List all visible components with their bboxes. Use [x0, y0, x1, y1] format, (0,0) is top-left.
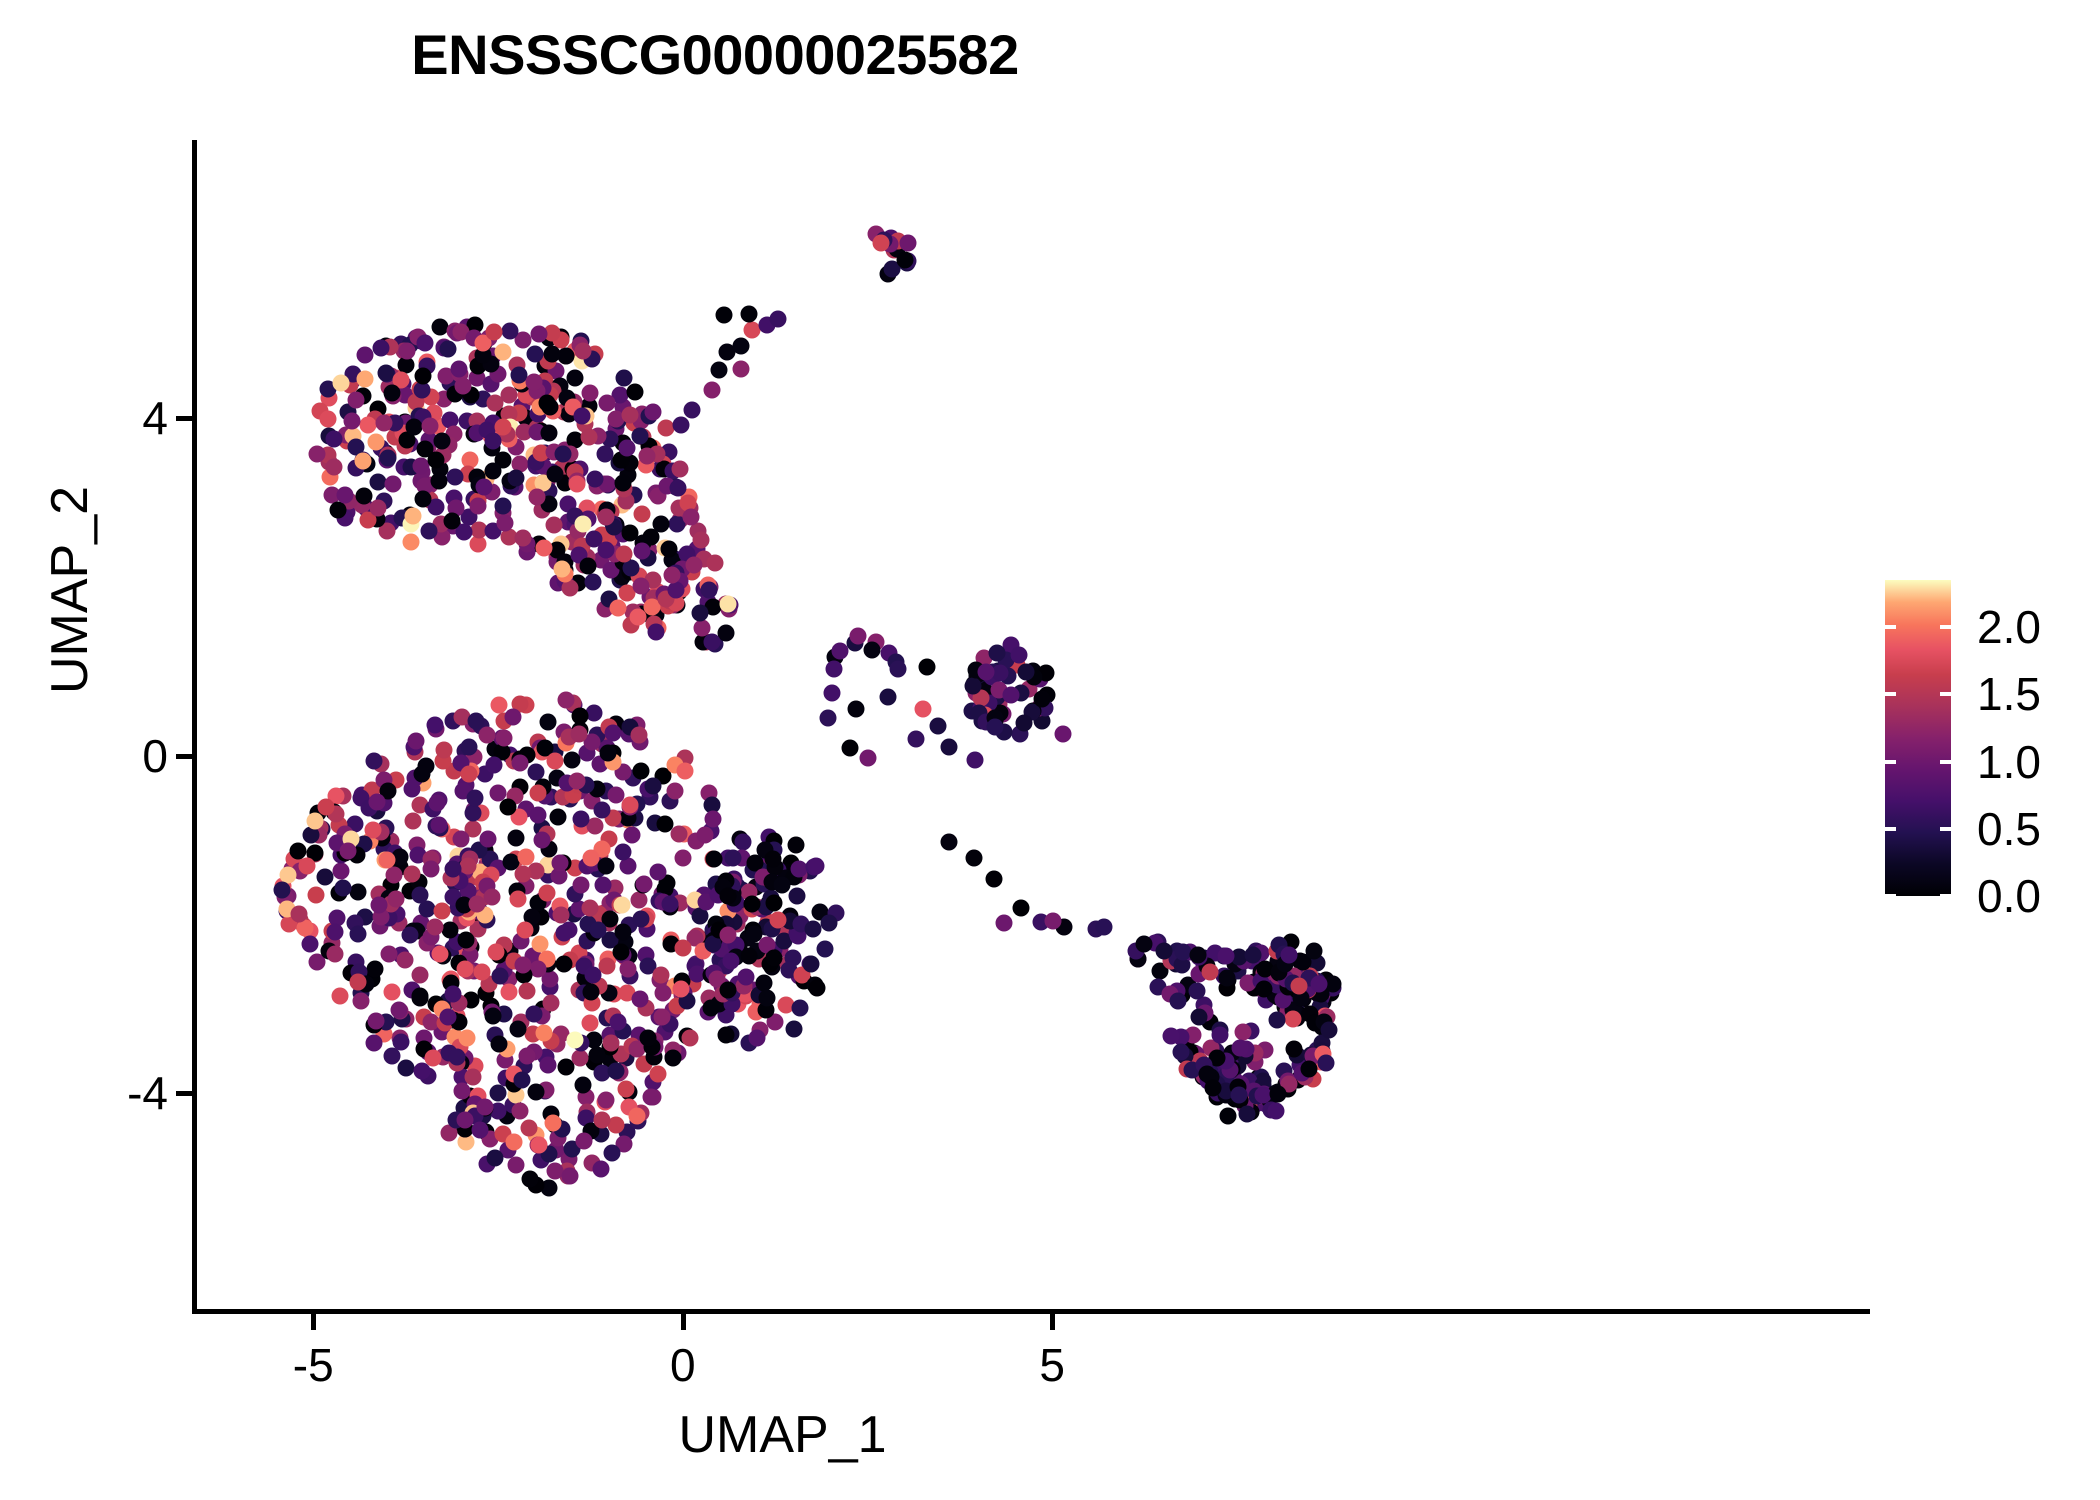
colorbar-tick-label: 1.5	[1977, 667, 2041, 721]
scatter-point	[553, 906, 570, 923]
scatter-point	[469, 497, 486, 514]
scatter-point	[414, 491, 431, 508]
scatter-point	[621, 797, 638, 814]
scatter-point	[507, 830, 524, 847]
scatter-point	[633, 763, 650, 780]
scatter-point	[420, 522, 437, 539]
scatter-point	[359, 417, 376, 434]
scatter-point	[665, 1049, 682, 1066]
scatter-point	[711, 362, 728, 379]
scatter-point	[521, 1171, 538, 1188]
scatter-point	[1055, 726, 1072, 743]
scatter-point	[466, 789, 483, 806]
scatter-point	[1204, 1079, 1221, 1096]
scatter-point	[805, 920, 822, 937]
colorbar-tick-mark	[1885, 625, 1896, 629]
scatter-point	[1219, 970, 1236, 987]
scatter-point	[545, 516, 562, 533]
scatter-point	[439, 1008, 456, 1025]
scatter-point	[615, 475, 632, 492]
scatter-point	[594, 801, 611, 818]
x-tick-label: -5	[293, 1338, 334, 1392]
scatter-point	[1281, 947, 1298, 964]
scatter-point	[722, 952, 739, 969]
scatter-point	[965, 850, 982, 867]
scatter-point	[918, 658, 935, 675]
scatter-point	[459, 1030, 476, 1047]
scatter-point	[411, 886, 428, 903]
scatter-point	[443, 513, 460, 530]
scatter-point	[1318, 1055, 1335, 1072]
scatter-point	[880, 688, 897, 705]
scatter-point	[518, 982, 535, 999]
colorbar-tick-mark	[1940, 760, 1951, 764]
scatter-point	[497, 514, 514, 531]
scatter-point	[291, 905, 308, 922]
scatter-point	[375, 414, 392, 431]
scatter-point	[704, 381, 721, 398]
scatter-point	[825, 660, 842, 677]
scatter-point	[533, 832, 550, 849]
scatter-point	[575, 1077, 592, 1094]
scatter-point	[483, 889, 500, 906]
scatter-point	[455, 378, 472, 395]
scatter-point	[1255, 981, 1272, 998]
scatter-point	[890, 661, 907, 678]
scatter-point	[456, 961, 473, 978]
colorbar-tick-mark	[1885, 894, 1896, 898]
scatter-point	[900, 234, 917, 251]
scatter-point	[566, 1032, 583, 1049]
scatter-point	[703, 999, 720, 1016]
scatter-point	[511, 1103, 528, 1120]
scatter-point	[604, 725, 621, 742]
scatter-point	[786, 1020, 803, 1037]
scatter-point	[653, 966, 670, 983]
colorbar-tick-mark	[1885, 760, 1896, 764]
scatter-point	[1018, 663, 1035, 680]
colorbar-tick-mark	[1940, 894, 1951, 898]
scatter-point	[610, 599, 627, 616]
scatter-point	[621, 525, 638, 542]
scatter-point	[787, 837, 804, 854]
scatter-point	[629, 608, 646, 625]
scatter-point	[627, 383, 644, 400]
scatter-point	[535, 1024, 552, 1041]
scatter-point	[595, 877, 612, 894]
scatter-point	[1034, 691, 1051, 708]
scatter-point	[649, 1066, 666, 1083]
scatter-point	[517, 921, 534, 938]
scatter-point	[823, 684, 840, 701]
scatter-point	[471, 1121, 488, 1138]
scatter-point	[326, 430, 343, 447]
scatter-point	[706, 850, 723, 867]
scatter-point	[597, 1091, 614, 1108]
scatter-point	[676, 762, 693, 779]
y-axis-line	[192, 140, 197, 1314]
x-tick-mark	[311, 1313, 316, 1330]
scatter-point	[1156, 942, 1173, 959]
scatter-point	[612, 943, 629, 960]
scatter-point	[380, 450, 397, 467]
scatter-point	[440, 340, 457, 357]
colorbar-tick-mark	[1940, 625, 1951, 629]
scatter-point	[724, 849, 741, 866]
scatter-point	[476, 1099, 493, 1116]
scatter-point	[508, 470, 525, 487]
umap-feature-plot: ENSSSCG00000025582 -404 -505 UMAP_1 UMAP…	[0, 0, 2100, 1500]
scatter-point	[1012, 899, 1029, 916]
scatter-point	[520, 1119, 537, 1136]
scatter-point	[512, 755, 529, 772]
scatter-point	[585, 966, 602, 983]
x-axis-line	[192, 1309, 1870, 1314]
scatter-point	[326, 945, 343, 962]
scatter-point	[366, 1034, 383, 1051]
scatter-point	[546, 465, 563, 482]
scatter-point	[668, 582, 685, 599]
scatter-point	[789, 888, 806, 905]
scatter-point	[340, 843, 357, 860]
scatter-point	[675, 940, 692, 957]
scatter-point	[1300, 1060, 1317, 1077]
scatter-point	[407, 733, 424, 750]
scatter-point	[682, 1029, 699, 1046]
scatter-point	[509, 891, 526, 908]
scatter-point	[618, 440, 635, 457]
scatter-point	[701, 581, 718, 598]
scatter-point	[588, 1046, 605, 1063]
scatter-point	[964, 678, 981, 695]
scatter-point	[1002, 687, 1019, 704]
scatter-point	[940, 739, 957, 756]
scatter-point	[356, 371, 373, 388]
scatter-point	[399, 343, 416, 360]
scatter-point	[349, 884, 366, 901]
scatter-point	[539, 395, 556, 412]
scatter-point	[383, 384, 400, 401]
scatter-point	[1189, 982, 1206, 999]
scatter-point	[413, 766, 430, 783]
scatter-point	[417, 335, 434, 352]
scatter-point	[896, 252, 913, 269]
scatter-point	[1268, 1011, 1285, 1028]
scatter-point	[554, 561, 571, 578]
scatter-point	[397, 952, 414, 969]
scatter-point	[525, 1006, 542, 1023]
scatter-point	[574, 407, 591, 424]
scatter-point	[563, 752, 580, 769]
scatter-point	[453, 1083, 470, 1100]
scatter-point	[649, 863, 666, 880]
scatter-point	[740, 948, 757, 965]
colorbar-tick-mark	[1940, 692, 1951, 696]
scatter-point	[336, 486, 353, 503]
y-tick-mark	[176, 1091, 193, 1096]
scatter-point	[594, 1112, 611, 1129]
scatter-point	[600, 745, 617, 762]
scatter-point	[769, 310, 786, 327]
scatter-point	[1239, 1106, 1256, 1123]
scatter-point	[907, 730, 924, 747]
scatter-point	[464, 805, 481, 822]
scatter-point	[479, 831, 496, 848]
scatter-point	[693, 532, 710, 549]
scatter-point	[632, 910, 649, 927]
scatter-point	[732, 337, 749, 354]
scatter-point	[404, 507, 421, 524]
scatter-point	[385, 867, 402, 884]
scatter-point	[610, 1014, 627, 1031]
scatter-point	[666, 782, 683, 799]
scatter-point	[604, 1145, 621, 1162]
scatter-point	[309, 446, 326, 463]
scatter-point	[427, 452, 444, 469]
scatter-point	[486, 757, 503, 774]
scatter-point	[820, 915, 837, 932]
scatter-point	[720, 595, 737, 612]
scatter-point	[598, 395, 615, 412]
colorbar-tick-label: 2.0	[1977, 600, 2041, 654]
scatter-point	[573, 876, 590, 893]
scatter-point	[403, 865, 420, 882]
scatter-point	[598, 541, 615, 558]
scatter-point	[566, 370, 583, 387]
scatter-point	[582, 1015, 599, 1032]
scatter-point	[536, 539, 553, 556]
scatter-point	[587, 471, 604, 488]
scatter-point	[555, 924, 572, 941]
scatter-point	[441, 922, 458, 939]
scatter-point	[368, 793, 385, 810]
scatter-point	[791, 999, 808, 1016]
scatter-point	[403, 781, 420, 798]
scatter-point	[737, 969, 754, 986]
scatter-point	[500, 798, 517, 815]
colorbar-legend: 0.00.51.01.52.0	[1885, 580, 2075, 910]
scatter-point	[645, 404, 662, 421]
scatter-point	[691, 604, 708, 621]
scatter-point	[584, 574, 601, 591]
scatter-point	[426, 918, 443, 935]
scatter-point	[385, 476, 402, 493]
scatter-point	[301, 936, 318, 953]
scatter-point	[914, 701, 931, 718]
scatter-point	[1016, 715, 1033, 732]
scatter-point	[330, 501, 347, 518]
scatter-point	[550, 808, 567, 825]
scatter-points-layer	[195, 140, 1370, 1312]
scatter-point	[662, 896, 679, 913]
scatter-point	[873, 235, 890, 252]
scatter-point	[864, 641, 881, 658]
scatter-point	[1230, 1086, 1247, 1103]
scatter-point	[544, 345, 561, 362]
scatter-point	[436, 741, 453, 758]
scatter-point	[582, 849, 599, 866]
scatter-point	[451, 360, 468, 377]
scatter-point	[660, 540, 677, 557]
colorbar-tick-label: 1.0	[1977, 735, 2041, 789]
scatter-point	[639, 1029, 656, 1046]
scatter-point	[1290, 978, 1307, 995]
scatter-point	[607, 1063, 624, 1080]
scatter-point	[807, 858, 824, 875]
scatter-point	[929, 718, 946, 735]
scatter-point	[1220, 1107, 1237, 1124]
scatter-point	[774, 877, 791, 894]
scatter-point	[558, 691, 575, 708]
scatter-point	[614, 844, 631, 861]
scatter-point	[519, 1048, 536, 1065]
scatter-point	[531, 325, 548, 342]
scatter-point	[675, 850, 692, 867]
scatter-point	[684, 401, 701, 418]
scatter-point	[614, 924, 631, 941]
scatter-point	[598, 508, 615, 525]
scatter-point	[621, 407, 638, 424]
scatter-point	[623, 826, 640, 843]
scatter-point	[988, 644, 1005, 661]
scatter-point	[803, 956, 820, 973]
scatter-point	[496, 729, 513, 746]
scatter-point	[431, 945, 448, 962]
scatter-point	[526, 346, 543, 363]
scatter-point	[631, 990, 648, 1007]
scatter-point	[719, 887, 736, 904]
scatter-point	[1172, 1044, 1189, 1061]
scatter-point	[444, 986, 461, 1003]
scatter-point	[1095, 918, 1112, 935]
scatter-point	[479, 727, 496, 744]
scatter-point	[350, 974, 367, 991]
scatter-point	[473, 964, 490, 981]
scatter-point	[847, 700, 864, 717]
scatter-point	[327, 923, 344, 940]
scatter-point	[547, 752, 564, 769]
scatter-point	[582, 983, 599, 1000]
scatter-point	[629, 1107, 646, 1124]
scatter-point	[1190, 1008, 1207, 1025]
scatter-point	[542, 995, 559, 1012]
scatter-point	[735, 833, 752, 850]
scatter-point	[618, 1081, 635, 1098]
scatter-point	[1170, 992, 1187, 1009]
x-tick-mark	[1050, 1313, 1055, 1330]
scatter-point	[299, 858, 316, 875]
scatter-point	[703, 634, 720, 651]
scatter-point	[452, 830, 469, 847]
y-tick-mark	[176, 754, 193, 759]
scatter-point	[670, 479, 687, 496]
scatter-point	[1285, 1041, 1302, 1058]
scatter-point	[1320, 1022, 1337, 1039]
scatter-point	[515, 956, 532, 973]
scatter-point	[977, 663, 994, 680]
scatter-point	[528, 488, 545, 505]
scatter-point	[647, 623, 664, 640]
scatter-point	[1135, 936, 1152, 953]
scatter-point	[485, 323, 502, 340]
scatter-point	[743, 895, 760, 912]
scatter-point	[331, 988, 348, 1005]
scatter-point	[683, 509, 700, 526]
scatter-point	[1044, 913, 1061, 930]
scatter-point	[541, 424, 558, 441]
scatter-point	[770, 911, 787, 928]
scatter-point	[1218, 948, 1235, 965]
scatter-point	[506, 1134, 523, 1151]
scatter-point	[581, 385, 598, 402]
scatter-point	[434, 903, 451, 920]
x-tick-mark	[681, 1313, 686, 1330]
scatter-point	[495, 497, 512, 514]
scatter-point	[366, 753, 383, 770]
scatter-point	[369, 500, 386, 517]
scatter-point	[528, 1083, 545, 1100]
scatter-point	[334, 880, 351, 897]
colorbar-tick-label: 0.5	[1977, 802, 2041, 856]
scatter-point	[371, 897, 388, 914]
scatter-point	[332, 374, 349, 391]
scatter-point	[663, 566, 680, 583]
scatter-point	[574, 515, 591, 532]
scatter-point	[552, 855, 569, 872]
scatter-point	[598, 857, 615, 874]
scatter-point	[630, 727, 647, 744]
scatter-point	[412, 987, 429, 1004]
scatter-point	[317, 868, 334, 885]
colorbar-tick-mark	[1885, 692, 1896, 696]
scatter-point	[569, 773, 586, 790]
scatter-point	[502, 323, 519, 340]
colorbar-tick-label: 0.0	[1977, 869, 2041, 923]
scatter-point	[1269, 1085, 1286, 1102]
scatter-point	[434, 433, 451, 450]
scatter-point	[597, 446, 614, 463]
scatter-point	[526, 373, 543, 390]
scatter-point	[615, 545, 632, 562]
scatter-point	[841, 739, 858, 756]
scatter-point	[368, 1012, 385, 1029]
scatter-point	[397, 1059, 414, 1076]
scatter-point	[555, 955, 572, 972]
scatter-point	[1235, 1023, 1252, 1040]
scatter-point	[572, 708, 589, 725]
scatter-point	[379, 851, 396, 868]
scatter-point	[716, 306, 733, 323]
scatter-point	[325, 458, 342, 475]
scatter-point	[581, 428, 598, 445]
scatter-point	[672, 460, 689, 477]
scatter-point	[570, 725, 587, 742]
scatter-point	[1232, 1039, 1249, 1056]
scatter-point	[1189, 946, 1206, 963]
scatter-point	[500, 387, 517, 404]
scatter-point	[593, 1160, 610, 1177]
scatter-point	[748, 1030, 765, 1047]
scatter-point	[572, 810, 589, 827]
scatter-point	[986, 870, 1003, 887]
scatter-point	[494, 343, 511, 360]
scatter-point	[966, 751, 983, 768]
scatter-point	[705, 811, 722, 828]
scatter-point	[817, 940, 834, 957]
scatter-point	[655, 984, 672, 1001]
colorbar-tick-mark	[1885, 827, 1896, 831]
scatter-point	[634, 506, 651, 523]
